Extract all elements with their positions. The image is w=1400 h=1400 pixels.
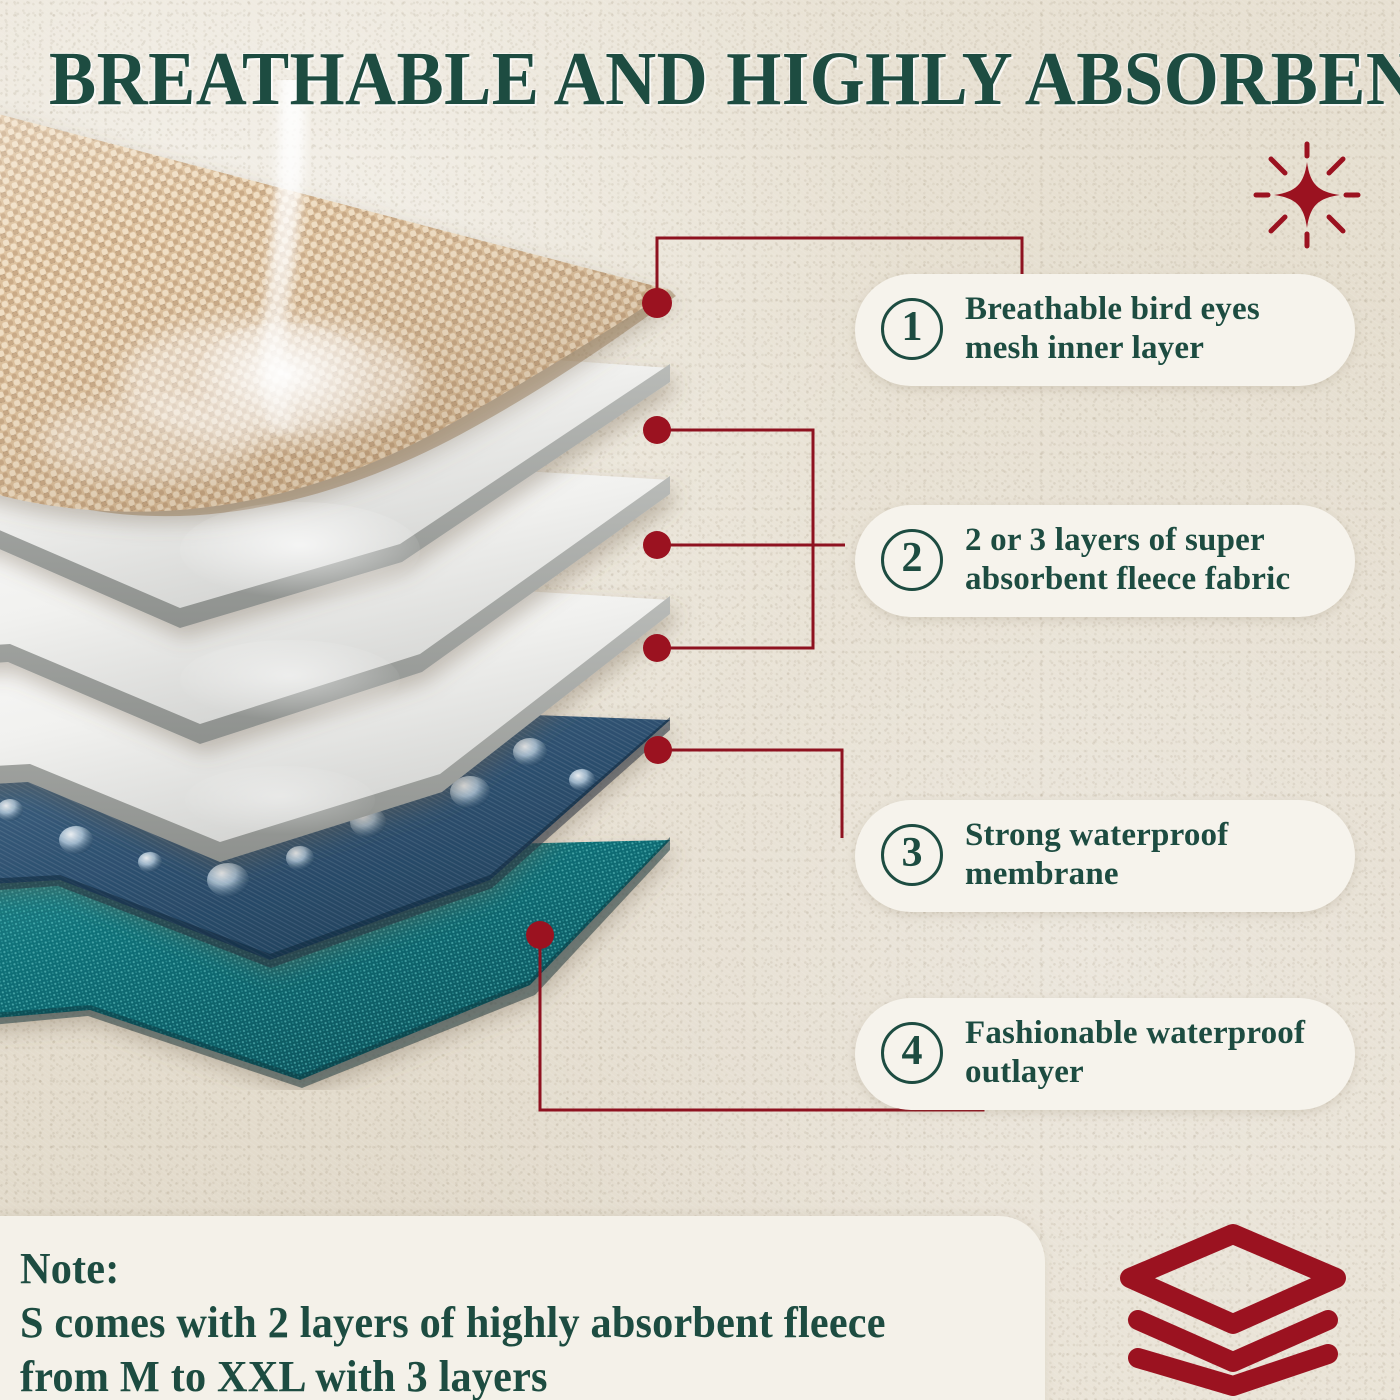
note-line-1: S comes with 2 layers of highly absorben… bbox=[20, 1296, 1004, 1350]
callout-3-line-2: membrane bbox=[965, 855, 1228, 894]
page-title: BREATHABLE AND HIGHLY ABSORBENT bbox=[49, 36, 1351, 123]
note-panel: Note: S comes with 2 layers of highly ab… bbox=[0, 1216, 1045, 1400]
callout-3[interactable]: 3 Strong waterproof membrane bbox=[855, 800, 1355, 912]
callout-1[interactable]: 1 Breathable bird eyes mesh inner layer bbox=[855, 274, 1355, 386]
callout-text-3: Strong waterproof membrane bbox=[965, 816, 1228, 894]
layers-stack-icon bbox=[1108, 1216, 1358, 1396]
note-heading: Note: bbox=[20, 1242, 1004, 1296]
product-layer-bird-eye-mesh bbox=[0, 80, 676, 516]
callout-text-1: Breathable bird eyes mesh inner layer bbox=[965, 290, 1260, 368]
callout-2[interactable]: 2 2 or 3 layers of super absorbent fleec… bbox=[855, 505, 1355, 617]
note-line-2: from M to XXL with 3 layers bbox=[20, 1350, 1004, 1400]
callout-4-line-1: Fashionable waterproof bbox=[965, 1014, 1305, 1053]
callout-text-4: Fashionable waterproof outlayer bbox=[965, 1014, 1305, 1092]
callout-2-line-2: absorbent fleece fabric bbox=[965, 560, 1290, 599]
callout-number-1: 1 bbox=[881, 298, 943, 360]
callout-2-line-1: 2 or 3 layers of super bbox=[965, 521, 1290, 560]
callout-4-line-2: outlayer bbox=[965, 1053, 1305, 1092]
callout-1-line-2: mesh inner layer bbox=[965, 329, 1260, 368]
callout-4[interactable]: 4 Fashionable waterproof outlayer bbox=[855, 998, 1355, 1110]
callout-number-2: 2 bbox=[881, 529, 943, 591]
product-layer-stack bbox=[0, 80, 790, 1090]
callout-1-line-1: Breathable bird eyes bbox=[965, 290, 1260, 329]
callout-number-4: 4 bbox=[881, 1022, 943, 1084]
sparkle-icon bbox=[1252, 140, 1362, 250]
infographic-canvas: BREATHABLE AND HIGHLY ABSORBENT 1 Breath… bbox=[0, 0, 1400, 1400]
callout-3-line-1: Strong waterproof bbox=[965, 816, 1228, 855]
callout-number-3: 3 bbox=[881, 824, 943, 886]
callout-text-2: 2 or 3 layers of super absorbent fleece … bbox=[965, 521, 1290, 599]
